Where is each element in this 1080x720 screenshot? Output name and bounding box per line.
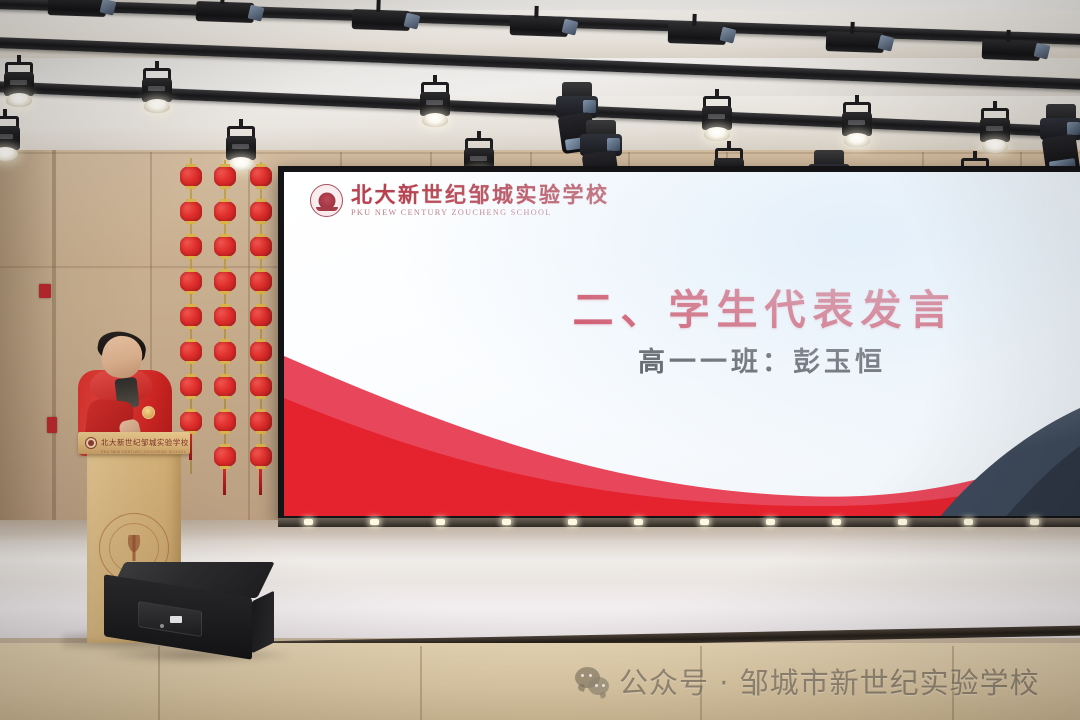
stage-flood-light — [196, 1, 255, 23]
lantern-string — [248, 162, 274, 492]
monitor-side-face — [252, 591, 274, 654]
pku-seal-icon — [310, 184, 343, 217]
slide-corner-watermark: · · · · · — [1029, 200, 1060, 209]
presentation-slide: 北大新世纪邹城实验学校 PKU NEW CENTURY ZOUCHENG SCH… — [284, 172, 1080, 516]
stage-flood-light — [510, 15, 569, 37]
watermark: 公众号 · 邹城市新世纪实验学校 — [575, 660, 1040, 702]
lantern-string — [212, 160, 238, 490]
stage-apron-seam — [420, 646, 422, 720]
wall-outlet-box-icon — [47, 417, 57, 433]
stage-flood-light — [826, 31, 885, 53]
stage-flood-light — [48, 0, 107, 17]
slide-school-name-cn: 北大新世纪邹城实验学校 — [351, 184, 610, 206]
pku-seal-icon — [85, 437, 97, 449]
led-screen: 北大新世纪邹城实验学校 PKU NEW CENTURY ZOUCHENG SCH… — [278, 166, 1080, 522]
slide-school-name-en: PKU NEW CENTURY ZOUCHENG SCHOOL — [351, 208, 610, 217]
par-can-light — [2, 62, 36, 108]
par-can-light — [0, 116, 22, 162]
stage-flood-light — [668, 23, 727, 45]
par-can-light — [840, 102, 874, 148]
stage-floor-monitor — [104, 562, 270, 658]
podium-plaque-cn: 北大新世纪邹城实验学校 — [101, 438, 189, 447]
wall-pilaster — [52, 150, 56, 580]
watermark-text: 公众号 · 邹城市新世纪实验学校 — [619, 660, 1040, 702]
monitor-label — [170, 616, 182, 623]
slide-header-logo: 北大新世纪邹城实验学校 PKU NEW CENTURY ZOUCHENG SCH… — [310, 184, 610, 217]
slide-title: 二、学生代表发言 — [284, 276, 1080, 336]
school-badge-icon — [142, 406, 155, 419]
monitor-indicator-icon — [160, 624, 164, 628]
lantern-string — [178, 158, 204, 474]
footlight-strip — [278, 518, 1080, 527]
par-can-light — [140, 68, 174, 114]
podium-plaque-en: PKU NEW CENTURY ZOUCHENG SCHOOL — [101, 450, 189, 454]
fire-alarm-box-icon — [39, 284, 51, 298]
par-can-light — [978, 108, 1012, 154]
wall-trim-line-top — [0, 152, 1080, 154]
wechat-icon — [575, 667, 609, 695]
slide-wave-decoration — [284, 356, 1080, 516]
stage-flood-light — [352, 9, 411, 31]
par-can-light — [700, 96, 734, 142]
stage-flood-light — [982, 39, 1041, 61]
par-can-light — [418, 82, 452, 128]
podium-nameplate: 北大新世纪邹城实验学校 PKU NEW CENTURY ZOUCHENG SCH… — [78, 432, 190, 454]
photo-scene: 北大新世纪邹城实验学校 PKU NEW CENTURY ZOUCHENG SCH… — [0, 0, 1080, 720]
wall-shadow-left — [0, 150, 60, 580]
